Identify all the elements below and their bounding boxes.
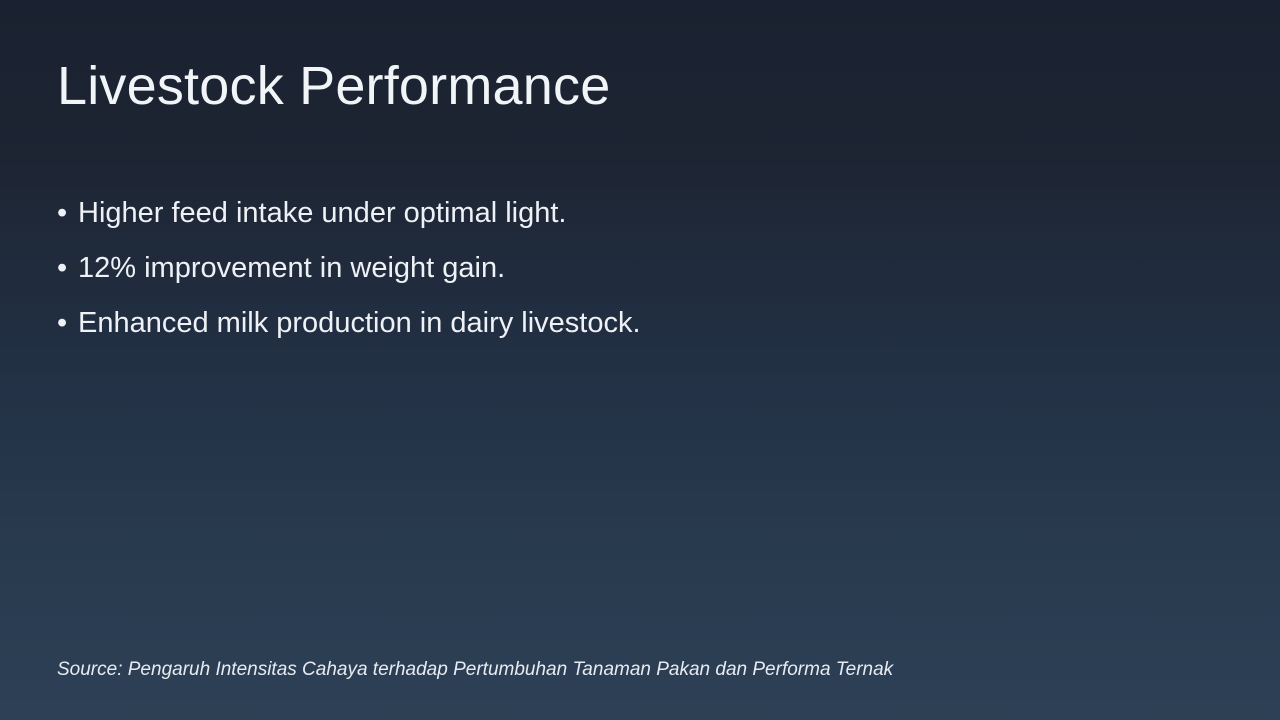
page-title: Livestock Performance [57,55,610,117]
list-item: • Enhanced milk production in dairy live… [57,296,1157,351]
list-item-label: Enhanced milk production in dairy livest… [78,296,641,351]
list-item-label: 12% improvement in weight gain. [78,241,505,296]
list-item: • 12% improvement in weight gain. [57,241,1157,296]
list-item: • Higher feed intake under optimal light… [57,186,1157,241]
bullet-list: • Higher feed intake under optimal light… [57,186,1157,351]
bullet-point-icon: • [57,296,78,351]
list-item-label: Higher feed intake under optimal light. [78,186,566,241]
presentation-slide: Livestock Performance • Higher feed inta… [0,0,1280,720]
bullet-point-icon: • [57,241,78,296]
bullet-point-icon: • [57,186,78,241]
source-citation: Source: Pengaruh Intensitas Cahaya terha… [57,657,893,683]
